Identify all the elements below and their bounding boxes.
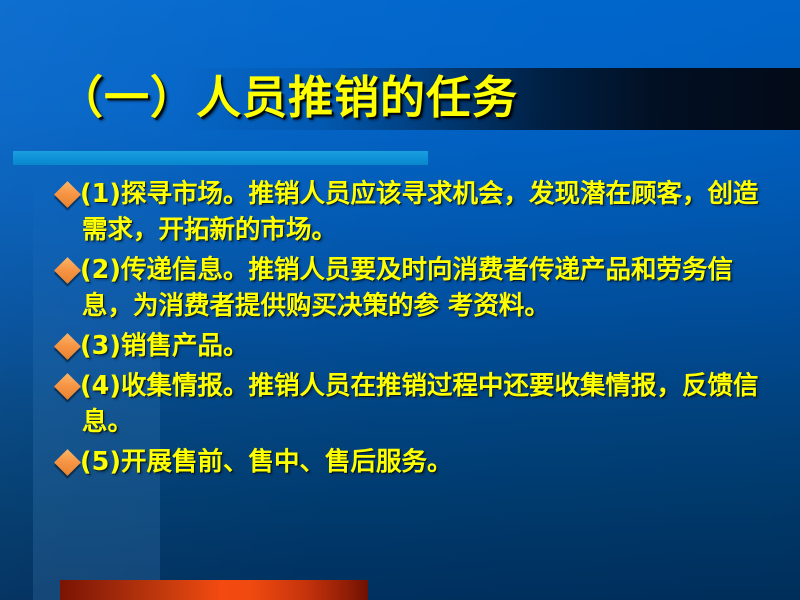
list-item-text: (5)开展售前、售中、售后服务。: [82, 444, 773, 480]
diamond-bullet-icon: [54, 257, 81, 284]
footer-accent-bar: [60, 580, 368, 600]
list-item: (1)探寻市场。推销人员应该寻求机会，发现潜在顾客，创造需求，开拓新的市场。: [58, 176, 773, 248]
title-underline-bar: [13, 151, 428, 165]
presentation-slide: （一）人员推销的任务 (1)探寻市场。推销人员应该寻求机会，发现潜在顾客，创造需…: [0, 0, 800, 600]
diamond-bullet-icon: [54, 333, 81, 360]
diamond-bullet-icon: [54, 181, 81, 208]
list-item: (2)传递信息。推销人员要及时向消费者传递产品和劳务信息，为消费者提供购买决策的…: [58, 252, 773, 324]
slide-title: （一）人员推销的任务: [58, 62, 758, 134]
diamond-bullet-icon: [54, 373, 81, 400]
list-item-text: (1)探寻市场。推销人员应该寻求机会，发现潜在顾客，创造需求，开拓新的市场。: [82, 176, 773, 248]
list-item: (4)收集情报。推销人员在推销过程中还要收集情报，反馈信息。: [58, 368, 773, 440]
list-item-text: (2)传递信息。推销人员要及时向消费者传递产品和劳务信息，为消费者提供购买决策的…: [82, 252, 773, 324]
list-item-text: (3)销售产品。: [82, 328, 773, 364]
list-item: (5)开展售前、售中、售后服务。: [58, 444, 773, 480]
list-item-text: (4)收集情报。推销人员在推销过程中还要收集情报，反馈信息。: [82, 368, 773, 440]
diamond-bullet-icon: [54, 449, 81, 476]
bullet-list: (1)探寻市场。推销人员应该寻求机会，发现潜在顾客，创造需求，开拓新的市场。 (…: [58, 176, 773, 484]
list-item: (3)销售产品。: [58, 328, 773, 364]
